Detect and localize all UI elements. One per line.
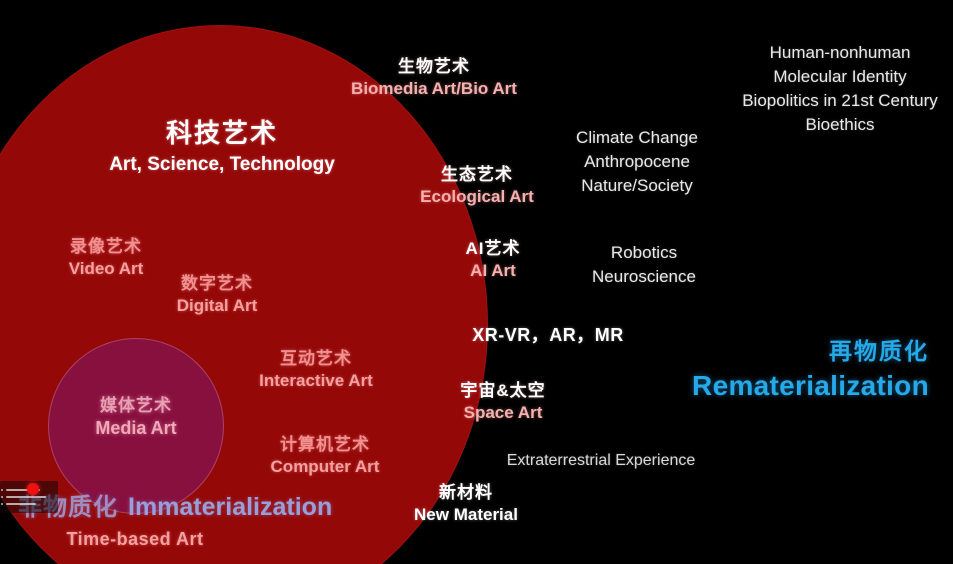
keyword-climate-change: Climate Change (576, 126, 698, 150)
label-interactive-art: 互动艺术 Interactive Art (259, 349, 373, 391)
keyword-group-robotics: Robotics Neuroscience (592, 241, 696, 289)
label-ecological-art-cn: 生态艺术 (420, 165, 534, 186)
keyword-biopolitics: Biopolitics in 21st Century (742, 89, 938, 113)
keyword-bioethics: Bioethics (742, 113, 938, 137)
core-title-en: Art, Science, Technology (109, 153, 335, 176)
label-video-art-cn: 录像艺术 (69, 237, 144, 258)
label-space-art: 宇宙&太空 Space Art (460, 381, 545, 423)
core-title: 科技艺术 Art, Science, Technology (109, 118, 335, 176)
slide-canvas: 科技艺术 Art, Science, Technology 录像艺术 Video… (0, 0, 953, 564)
label-new-material-en: New Material (414, 505, 518, 526)
label-ai-art-cn: AI艺术 (466, 239, 521, 260)
label-space-art-cn: 宇宙&太空 (460, 381, 545, 402)
player-overlay-widget[interactable] (0, 481, 58, 513)
label-video-art-en: Video Art (69, 259, 144, 280)
keyword-group-climate: Climate Change Anthropocene Nature/Socie… (576, 126, 698, 198)
list-bullet-icon (1, 496, 3, 498)
label-video-art: 录像艺术 Video Art (69, 237, 144, 279)
keyword-human-nonhuman: Human-nonhuman (742, 41, 938, 65)
keyword-neuroscience: Neuroscience (592, 265, 696, 289)
keyword-robotics: Robotics (592, 241, 696, 265)
record-dot-icon (27, 483, 39, 495)
label-computer-art-en: Computer Art (271, 457, 380, 478)
label-time-based-art: Time-based Art (66, 529, 203, 550)
label-interactive-art-en: Interactive Art (259, 371, 373, 392)
banner-rematerialization: 再物质化 Rematerialization (692, 332, 929, 402)
keyword-molecular-identity: Molecular Identity (742, 65, 938, 89)
label-bio-art-en: Biomedia Art/Bio Art (351, 79, 517, 100)
label-extraterrestrial-experience: Extraterrestrial Experience (507, 450, 696, 473)
label-space-art-en: Space Art (460, 403, 545, 424)
label-digital-art-cn: 数字艺术 (177, 274, 258, 295)
list-lines-icon (6, 496, 46, 498)
label-bio-art-cn: 生物艺术 (351, 57, 517, 78)
keyword-anthropocene: Anthropocene (576, 150, 698, 174)
label-media-art-cn: 媒体艺术 (95, 396, 176, 417)
label-new-material: 新材料 New Material (414, 483, 518, 525)
label-computer-art-cn: 计算机艺术 (271, 435, 380, 456)
list-lines-icon (6, 503, 36, 505)
label-ai-art-en: AI Art (466, 261, 521, 282)
label-digital-art: 数字艺术 Digital Art (177, 274, 258, 316)
list-bullet-icon (1, 503, 3, 505)
keyword-nature-society: Nature/Society (576, 174, 698, 198)
label-ecological-art: 生态艺术 Ecological Art (420, 165, 534, 207)
banner-immaterialization: 非物质化Immaterialization (18, 487, 332, 522)
label-xr-line: XR-VR，AR，MR (472, 321, 624, 347)
label-media-art: 媒体艺术 Media Art (95, 396, 176, 440)
label-ecological-art-en: Ecological Art (420, 187, 534, 208)
label-ai-art: AI艺术 AI Art (466, 239, 521, 281)
list-bullet-icon (1, 489, 3, 491)
banner-rematerialization-en: Rematerialization (692, 370, 929, 402)
label-computer-art: 计算机艺术 Computer Art (271, 435, 380, 477)
label-digital-art-en: Digital Art (177, 296, 258, 317)
banner-immaterialization-en: Immaterialization (128, 493, 332, 521)
keyword-group-bioethics: Human-nonhuman Molecular Identity Biopol… (742, 41, 938, 138)
label-interactive-art-cn: 互动艺术 (259, 349, 373, 370)
core-title-cn: 科技艺术 (109, 118, 335, 150)
label-bio-art: 生物艺术 Biomedia Art/Bio Art (351, 57, 517, 99)
label-media-art-en: Media Art (95, 418, 176, 440)
label-new-material-cn: 新材料 (414, 483, 518, 504)
banner-rematerialization-cn: 再物质化 (692, 332, 929, 366)
